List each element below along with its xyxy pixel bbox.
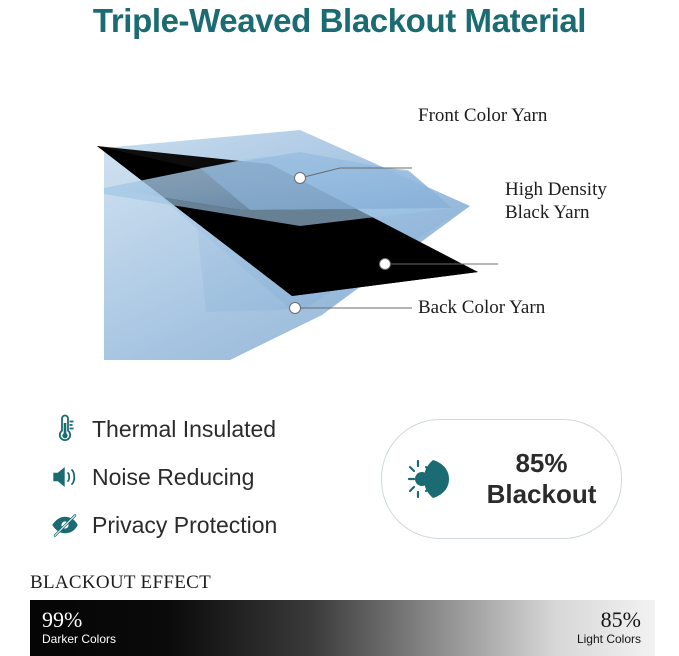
- blackout-effect-title: BLACKOUT EFFECT: [30, 572, 655, 594]
- blackout-effect-gradient-bar: 99% Darker Colors 85% Light Colors: [30, 600, 655, 656]
- badge-percent: 85%: [515, 448, 567, 478]
- fabric-layers-diagram: Front Color Yarn High DensityBlack Yarn …: [0, 60, 679, 360]
- effect-left-group: 99% Darker Colors: [42, 607, 116, 647]
- feature-privacy-protection: Privacy Protection: [48, 504, 378, 546]
- callout-label-high-density-black-yarn: High DensityBlack Yarn: [505, 178, 607, 224]
- feature-label: Thermal Insulated: [82, 416, 276, 443]
- blackout-badge: 85% Blackout: [381, 419, 622, 539]
- features-list: Thermal Insulated Noise Reducing Privacy…: [48, 408, 378, 552]
- callout-label-back-color-yarn: Back Color Yarn: [418, 296, 545, 319]
- thermometer-icon: [48, 412, 82, 446]
- effect-left-sublabel: Darker Colors: [42, 632, 116, 647]
- sun-blocked-icon: [382, 454, 470, 504]
- badge-text: 85% Blackout: [470, 448, 621, 510]
- effect-right-group: 85% Light Colors: [577, 607, 641, 647]
- callout-label-front-color-yarn: Front Color Yarn: [418, 104, 547, 127]
- badge-label: Blackout: [487, 479, 597, 509]
- effect-left-percent: 99%: [42, 607, 116, 632]
- feature-noise-reducing: Noise Reducing: [48, 456, 378, 498]
- callout-label-high-density-line2: Black Yarn: [505, 202, 589, 223]
- blackout-effect-section: BLACKOUT EFFECT 99% Darker Colors 85% Li…: [30, 572, 655, 656]
- feature-label: Noise Reducing: [82, 464, 254, 491]
- effect-right-sublabel: Light Colors: [577, 632, 641, 647]
- callout-label-high-density-line1: High Density: [505, 179, 607, 200]
- feature-thermal-insulated: Thermal Insulated: [48, 408, 378, 450]
- feature-label: Privacy Protection: [82, 512, 277, 539]
- page-title: Triple-Weaved Blackout Material: [0, 2, 679, 40]
- effect-right-percent: 85%: [577, 607, 641, 632]
- speaker-sound-icon: [48, 460, 82, 494]
- eye-slash-icon: [48, 508, 82, 542]
